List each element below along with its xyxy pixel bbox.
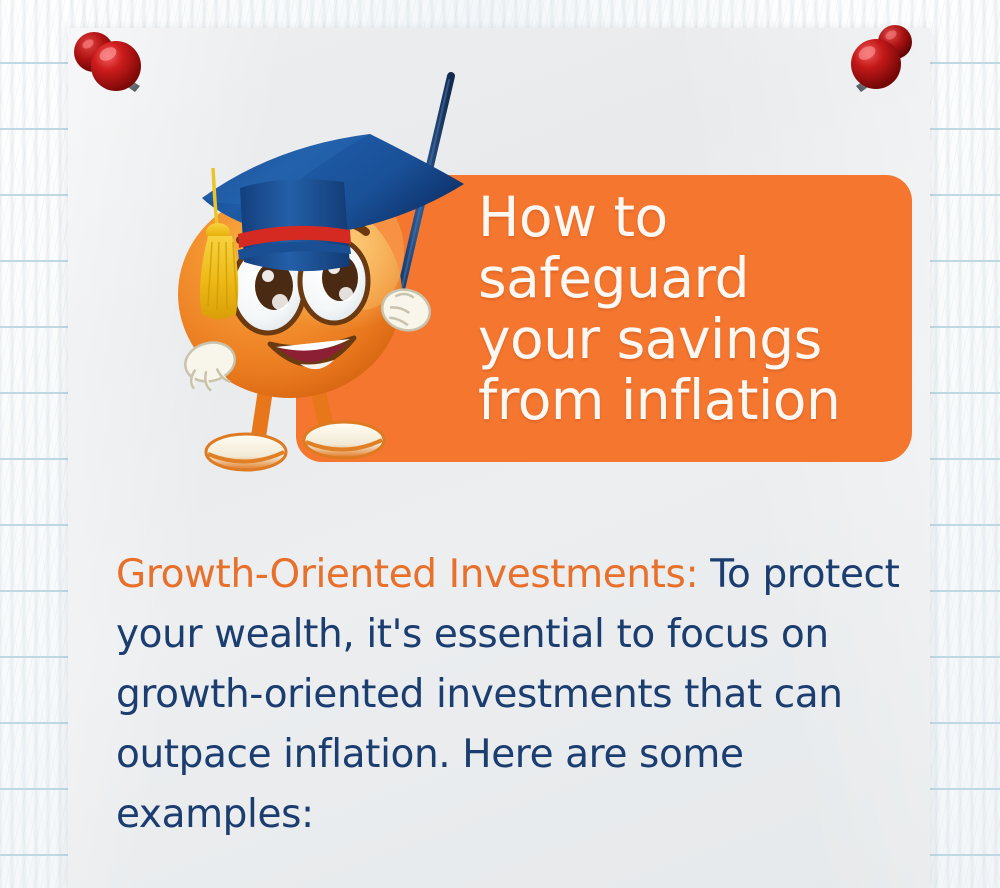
top-right-pushpin (838, 20, 930, 108)
top-left-pushpin (64, 22, 156, 110)
body-copy: Growth-Oriented Investments: To protect … (116, 545, 906, 845)
infographic-slide: How to safeguard your savings from infla… (0, 0, 1000, 888)
orange-graduate-mascot (62, 62, 482, 492)
banner-title-text: How to safeguard your savings from infla… (478, 187, 908, 431)
mascot-shoes (206, 422, 384, 470)
body-lead-text: Growth-Oriented Investments: (116, 552, 698, 597)
